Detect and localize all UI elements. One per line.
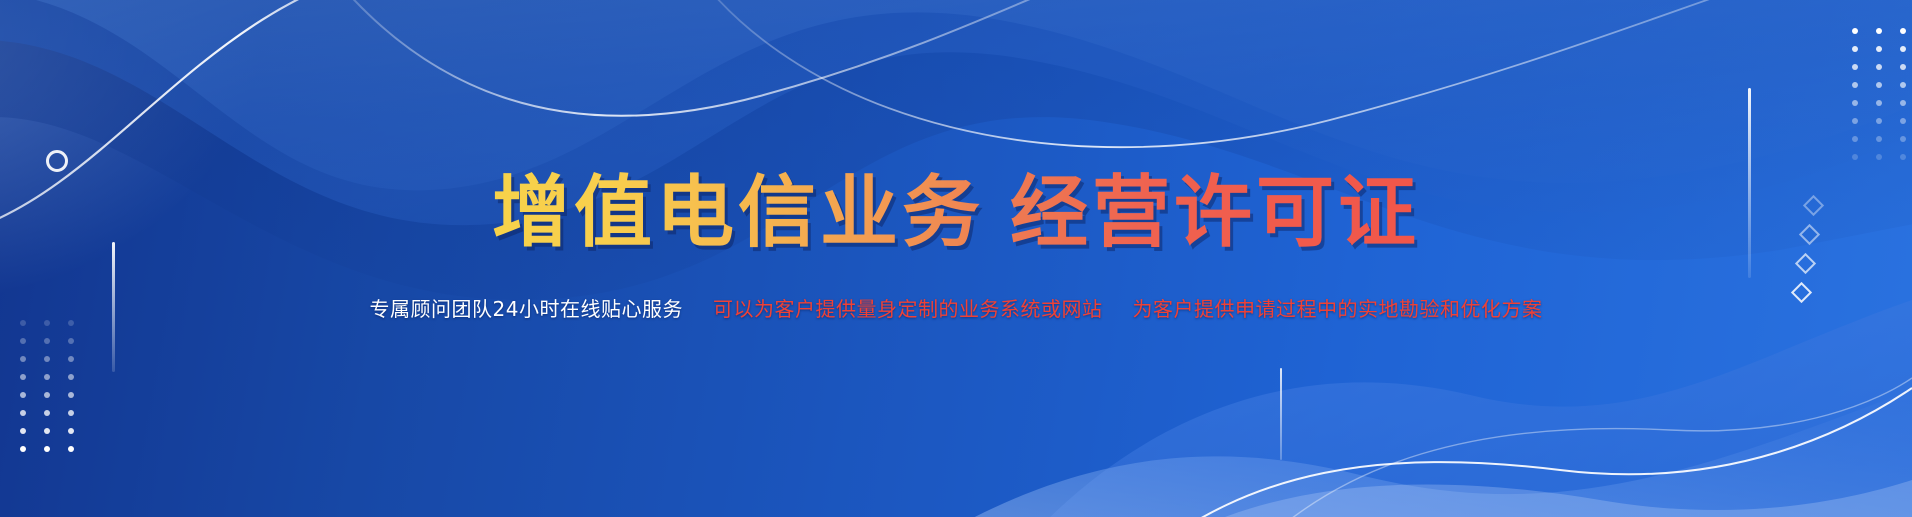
subtitle-segment-3: 为客户提供申请过程中的实地勘验和优化方案 <box>1132 297 1542 321</box>
page-title: 增值电信业务经营许可证 <box>492 171 1420 255</box>
promo-banner: 增值电信业务经营许可证 专属顾问团队24小时在线贴心服务可以为客户提供量身定制的… <box>0 0 1912 517</box>
headline-part-2: 经营许可证 <box>1010 168 1420 258</box>
banner-subtitle: 专属顾问团队24小时在线贴心服务可以为客户提供量身定制的业务系统或网站为客户提供… <box>370 293 1543 322</box>
headline-part-1: 增值电信业务 <box>492 168 984 258</box>
subtitle-segment-2: 可以为客户提供量身定制的业务系统或网站 <box>713 297 1103 321</box>
subtitle-segment-1: 专属顾问团队24小时在线贴心服务 <box>370 297 683 321</box>
banner-content: 增值电信业务经营许可证 专属顾问团队24小时在线贴心服务可以为客户提供量身定制的… <box>0 0 1912 517</box>
